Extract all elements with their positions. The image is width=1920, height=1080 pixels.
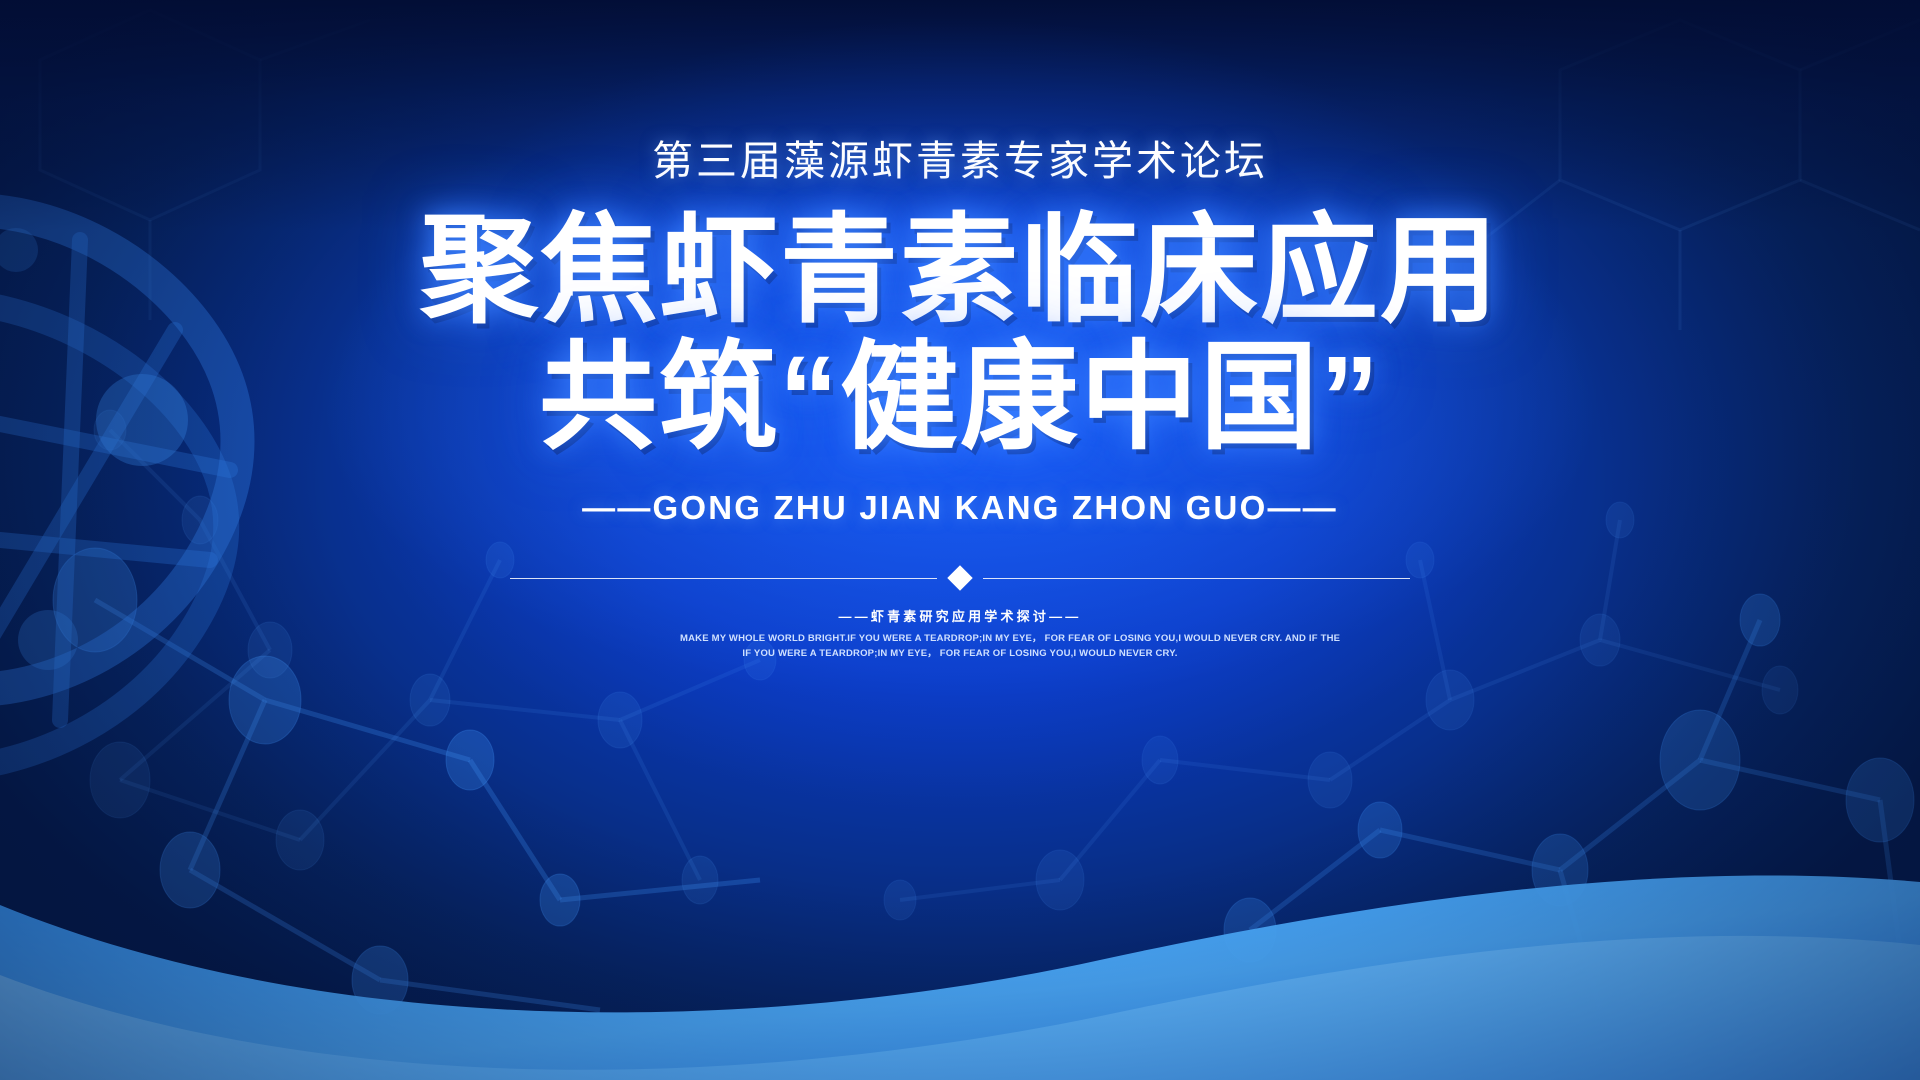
divider-line-right (983, 578, 1410, 579)
topic-note: ——虾青素研究应用学术探讨—— (838, 606, 1081, 625)
divider-line-left (510, 578, 937, 579)
pinyin-subtitle: ——GONG ZHU JIAN KANG ZHON GUO—— (582, 489, 1338, 527)
title-line-1: 聚焦虾青素临床应用 (420, 210, 1500, 333)
diamond-divider (510, 567, 1410, 589)
english-blurb: MAKE MY WHOLE WORLD BRIGHT.IF YOU WERE A… (680, 632, 1240, 661)
main-title: 聚焦虾青素临床应用 共筑“健康中国” (420, 210, 1500, 459)
title-line-2: 共筑“健康中国” (420, 337, 1500, 460)
event-eyebrow: 第三届藻源虾青素专家学术论坛 (652, 141, 1268, 182)
blurb-line-2: IF YOU WERE A TEARDROP;IN MY EYE， FOR FE… (680, 647, 1240, 661)
poster-content: 第三届藻源虾青素专家学术论坛 聚焦虾青素临床应用 共筑“健康中国” ——GONG… (0, 0, 1920, 1080)
diamond-icon (947, 566, 972, 591)
poster-canvas: 第三届藻源虾青素专家学术论坛 聚焦虾青素临床应用 共筑“健康中国” ——GONG… (0, 0, 1920, 1080)
blurb-line-1: MAKE MY WHOLE WORLD BRIGHT.IF YOU WERE A… (680, 632, 1240, 646)
